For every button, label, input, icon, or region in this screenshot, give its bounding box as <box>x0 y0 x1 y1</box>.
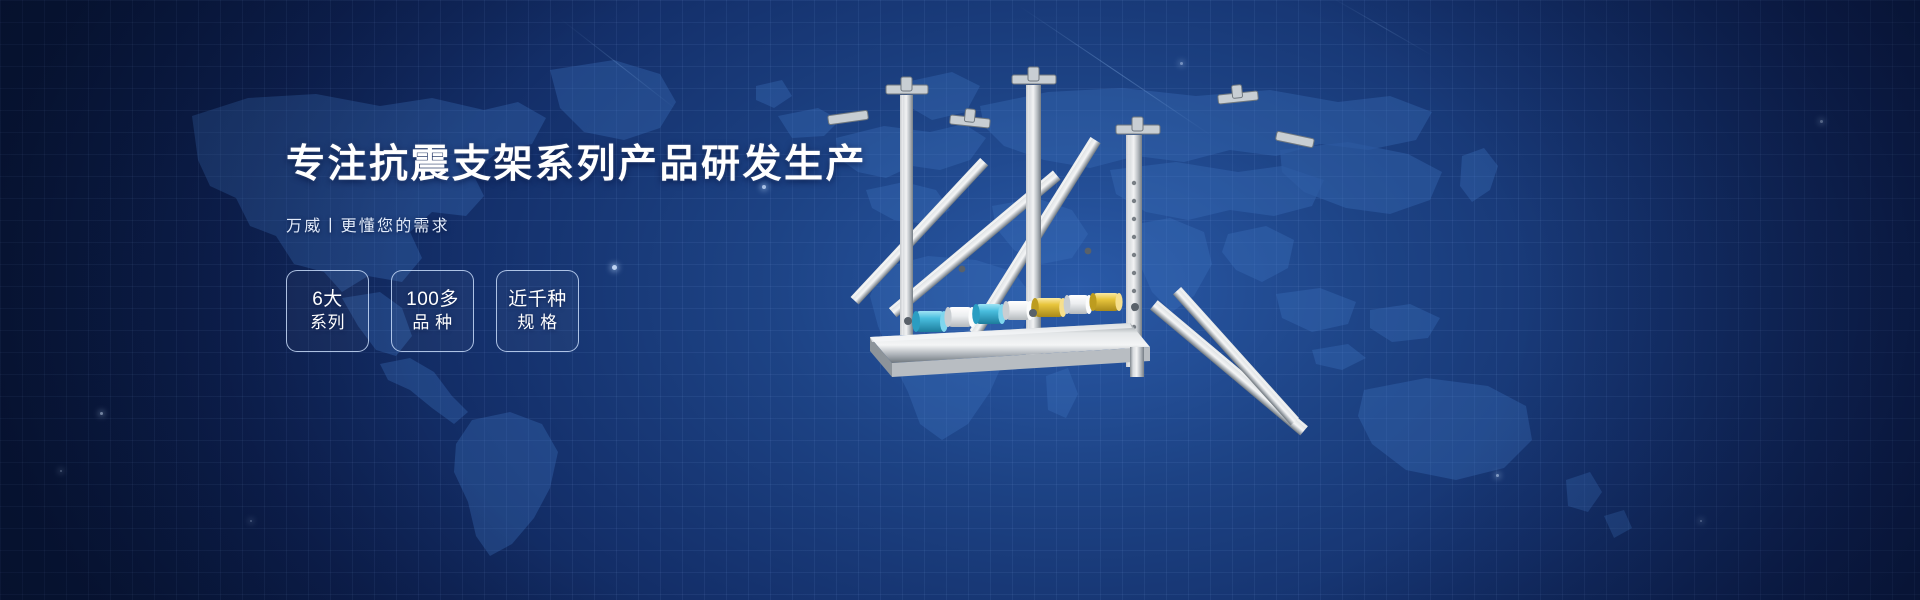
badge-line-1: 100多 <box>406 287 459 313</box>
highlight-badge-specifications[interactable]: 近千种 规 格 <box>496 270 579 352</box>
badge-line-1: 近千种 <box>508 287 567 313</box>
badge-line-2: 规 格 <box>517 312 557 335</box>
banner-headline: 专注抗震支架系列产品研发生产 <box>286 143 906 188</box>
hero-banner: 专注抗震支架系列产品研发生产 万威丨更懂您的需求 6大 系列 100多 品 种 … <box>0 0 1920 600</box>
highlight-badge-varieties[interactable]: 100多 品 种 <box>391 270 474 352</box>
product-image-seismic-bracket <box>830 55 1350 415</box>
badge-line-2: 系列 <box>310 312 345 335</box>
badge-line-2: 品 种 <box>412 312 452 335</box>
banner-content: 专注抗震支架系列产品研发生产 万威丨更懂您的需求 6大 系列 100多 品 种 … <box>286 143 906 352</box>
badge-line-1: 6大 <box>312 287 343 313</box>
highlight-badge-group: 6大 系列 100多 品 种 近千种 规 格 <box>286 270 906 352</box>
banner-subtitle: 万威丨更懂您的需求 <box>286 212 906 236</box>
highlight-badge-series[interactable]: 6大 系列 <box>286 270 369 352</box>
